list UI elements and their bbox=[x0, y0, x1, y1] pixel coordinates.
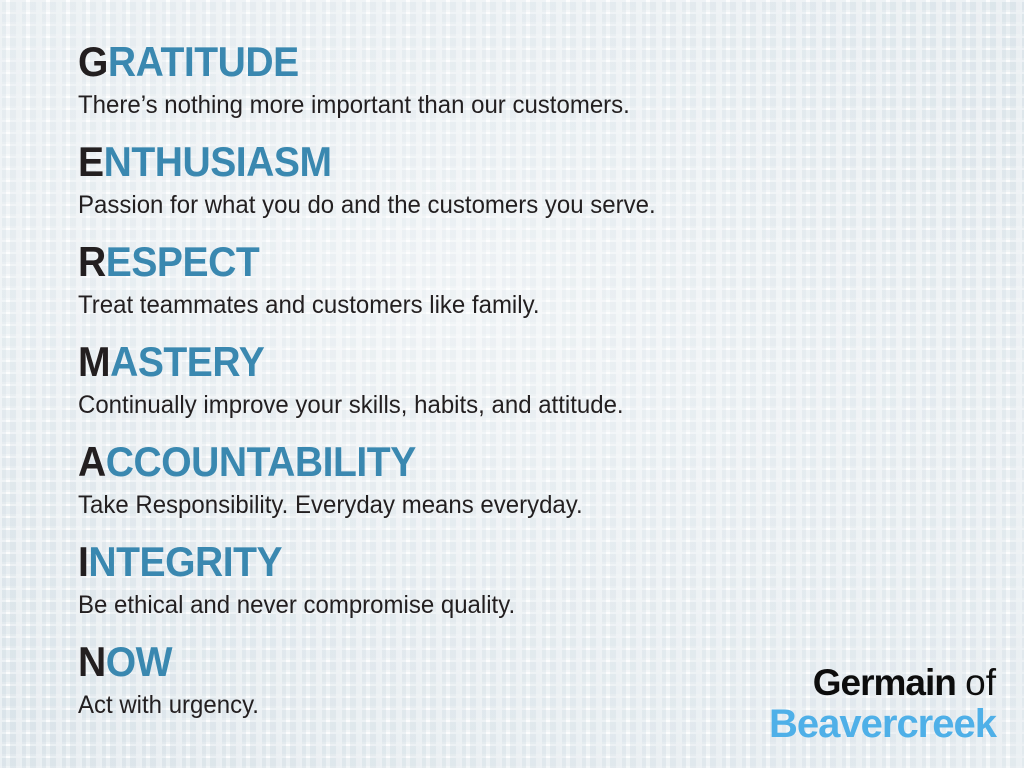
value-heading-rest: NTHUSIASM bbox=[104, 138, 332, 185]
value-description-respect: Treat teammates and customers like famil… bbox=[78, 288, 986, 322]
value-heading-respect: RESPECT bbox=[78, 238, 958, 286]
logo-brand-name: Germain bbox=[813, 662, 956, 703]
value-heading-rest: CCOUNTABILITY bbox=[106, 438, 416, 485]
value-heading-rest: RATITUDE bbox=[108, 38, 299, 85]
value-initial: M bbox=[78, 338, 110, 385]
value-block-integrity: INTEGRITY Be ethical and never compromis… bbox=[78, 538, 1024, 622]
value-block-accountability: ACCOUNTABILITY Take Responsibility. Ever… bbox=[78, 438, 1024, 522]
logo-line-brand: Germain of bbox=[769, 664, 996, 701]
value-heading-rest: ESPECT bbox=[106, 238, 259, 285]
value-heading-gratitude: GRATITUDE bbox=[78, 38, 958, 86]
dealership-logo: Germain of Beavercreek bbox=[769, 664, 996, 744]
value-heading-rest: NTEGRITY bbox=[88, 538, 282, 585]
value-initial: N bbox=[78, 638, 106, 685]
logo-location-name: Beavercreek bbox=[769, 704, 996, 744]
value-heading-rest: ASTERY bbox=[110, 338, 264, 385]
values-list: GRATITUDE There’s nothing more important… bbox=[0, 0, 1024, 768]
value-description-accountability: Take Responsibility. Everyday means ever… bbox=[78, 488, 986, 522]
value-heading-accountability: ACCOUNTABILITY bbox=[78, 438, 958, 486]
value-description-gratitude: There’s nothing more important than our … bbox=[78, 88, 986, 122]
value-initial: A bbox=[78, 438, 106, 485]
value-block-mastery: MASTERY Continually improve your skills,… bbox=[78, 338, 1024, 422]
value-block-gratitude: GRATITUDE There’s nothing more important… bbox=[78, 38, 1024, 122]
value-initial: E bbox=[78, 138, 104, 185]
value-heading-mastery: MASTERY bbox=[78, 338, 958, 386]
value-block-enthusiasm: ENTHUSIASM Passion for what you do and t… bbox=[78, 138, 1024, 222]
logo-connector-word: of bbox=[965, 662, 996, 703]
value-block-respect: RESPECT Treat teammates and customers li… bbox=[78, 238, 1024, 322]
value-heading-enthusiasm: ENTHUSIASM bbox=[78, 138, 958, 186]
value-description-enthusiasm: Passion for what you do and the customer… bbox=[78, 188, 986, 222]
value-description-mastery: Continually improve your skills, habits,… bbox=[78, 388, 986, 422]
value-heading-integrity: INTEGRITY bbox=[78, 538, 958, 586]
value-initial: I bbox=[78, 538, 88, 585]
value-heading-rest: OW bbox=[106, 638, 172, 685]
value-initial: G bbox=[78, 38, 108, 85]
value-initial: R bbox=[78, 238, 106, 285]
value-description-integrity: Be ethical and never compromise quality. bbox=[78, 588, 986, 622]
